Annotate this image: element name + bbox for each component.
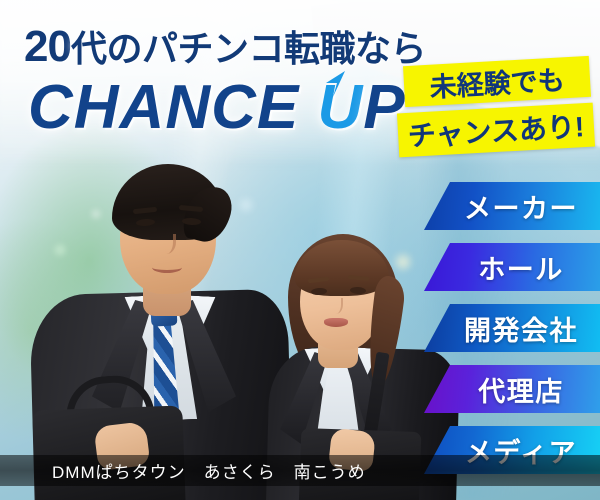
logotype-u: U [317, 73, 363, 142]
headline-rest: 代のパチンコ転職なら [71, 28, 426, 69]
page-title: 20代のパチンコ転職なら [24, 20, 426, 72]
category-button-maker-label: メーカー [446, 187, 578, 226]
category-button-hall[interactable]: ホール [424, 243, 600, 291]
man-mouth [152, 262, 182, 273]
category-button-maker[interactable]: メーカー [424, 182, 600, 230]
badge-chance-available-label: チャンスあり! [407, 105, 585, 155]
logotype: CHANCE UP [28, 72, 406, 143]
headline-number: 20 [24, 22, 71, 71]
badge-no-experience-label: 未経験でも [429, 58, 566, 104]
logotype-up: UP [317, 72, 405, 143]
category-button-hall-label: ホール [460, 248, 564, 287]
logotype-chance: CHANCE [28, 73, 299, 142]
category-button-agency[interactable]: 代理店 [424, 365, 600, 413]
promo-banner[interactable]: 20代のパチンコ転職なら CHANCE UP 未経験でも チャンスあり! メーカ… [0, 0, 600, 500]
credit-text: DMMぱちタウン あさくら 南こうめ [0, 458, 366, 483]
category-button-agency-label: 代理店 [460, 370, 564, 409]
category-button-developer[interactable]: 開発会社 [424, 304, 600, 352]
woman-mouth [324, 318, 348, 327]
credit-strip: DMMぱちタウン あさくら 南こうめ [0, 455, 600, 486]
category-button-developer-label: 開発会社 [446, 309, 578, 348]
